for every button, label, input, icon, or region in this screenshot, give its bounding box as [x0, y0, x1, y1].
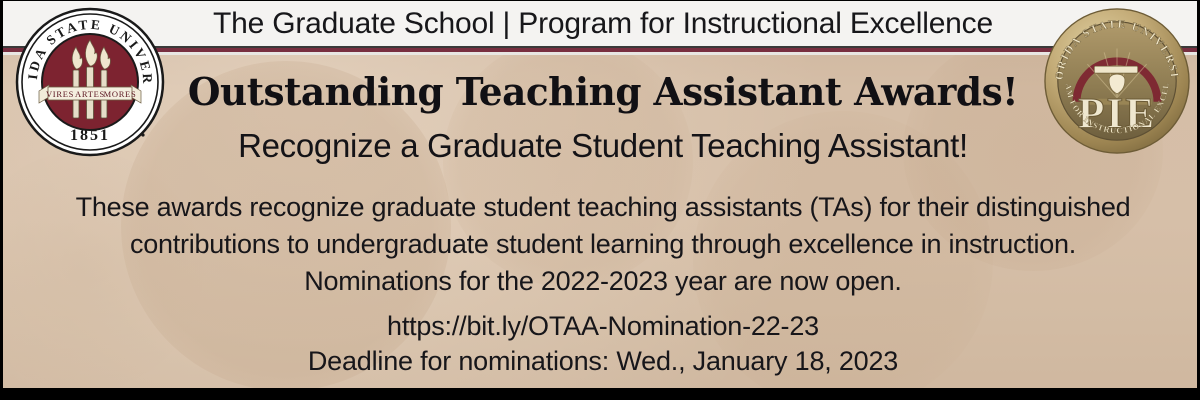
svg-text:VIRES: VIRES	[46, 89, 74, 99]
header-title: The Graduate School | Program for Instru…	[3, 1, 1200, 47]
flyer-banner: The Graduate School | Program for Instru…	[0, 0, 1200, 400]
pie-seal-icon: PIE FLORIDA STATE UNIVERSITY PROGRAM FOR…	[1043, 7, 1191, 155]
svg-text:ARTES: ARTES	[75, 89, 105, 99]
fsu-seal-icon: VIRES ARTES MORES FLORIDA STATE UNIVERSI…	[15, 7, 165, 157]
svg-text:1851: 1851	[70, 127, 110, 144]
bottom-black-bar	[3, 388, 1200, 400]
nomination-url[interactable]: https://bit.ly/OTAA-Nomination-22-23	[3, 311, 1200, 342]
svg-text:MORES: MORES	[104, 89, 137, 99]
header-rule-light	[3, 52, 1200, 55]
